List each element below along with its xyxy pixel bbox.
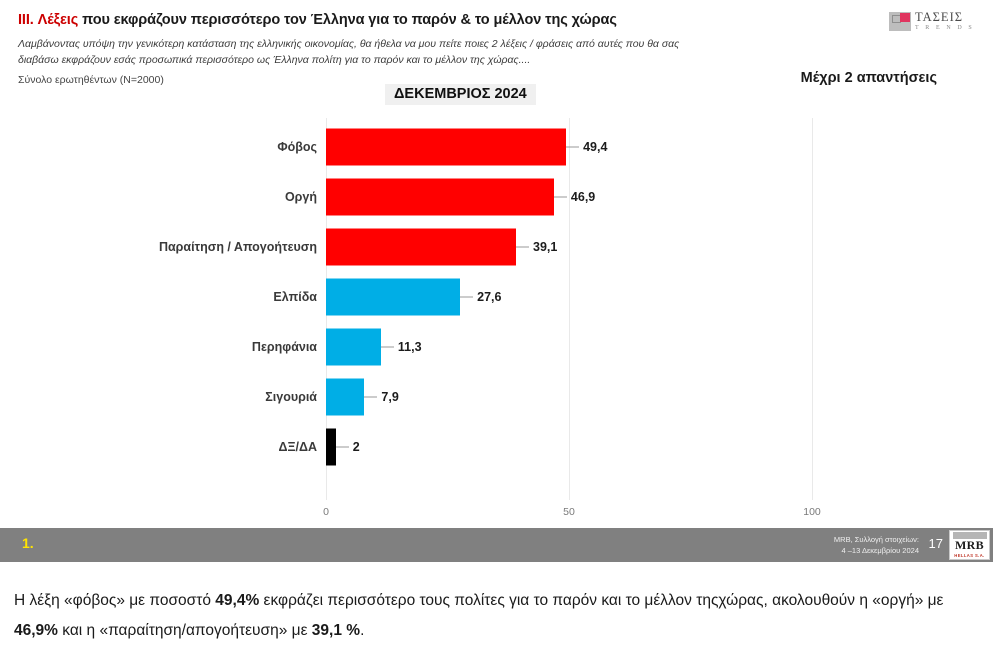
bar-category-label: Φόβος <box>277 140 317 154</box>
x-tick-0: 0 <box>323 506 329 518</box>
slide-footer: 1. MRB, Συλλογή στοιχείων: 4 –13 Δεκεμβρ… <box>0 528 993 562</box>
bar-leader-line <box>566 147 579 148</box>
footer-page-number: 17 <box>929 536 943 551</box>
commentary-bold2: 46,9% <box>14 622 58 639</box>
chart-title: ΔΕΚΕΜΒΡΙΟΣ 2024 <box>385 84 536 105</box>
commentary-bold3: 39,1 % <box>312 622 360 639</box>
bar-value-label: 39,1 <box>533 240 557 254</box>
page-title-highlight: Λέξεις <box>38 12 79 28</box>
max-answers-note: Μέχρι 2 απαντήσεις <box>801 70 937 86</box>
sample-base-text: Σύνολο ερωτηθέντων (Ν=2000) <box>18 74 164 86</box>
bar-row: Οργή46,9 <box>0 172 993 222</box>
bar-value-label: 11,3 <box>398 340 422 354</box>
bar-segment <box>326 179 554 216</box>
bar-category-label: Παραίτηση / Απογοήτευση <box>159 240 317 254</box>
commentary-part2: εκφράζει περισσότερο τους πολίτες για το… <box>259 592 943 609</box>
x-tick-100: 100 <box>803 506 821 518</box>
trends-logo-primary: ΤΑΣΕΙΣ <box>915 11 974 24</box>
footer-source: MRB, Συλλογή στοιχείων: 4 –13 Δεκεμβρίου… <box>834 534 919 557</box>
bar-category-label: ΔΞ/ΔΑ <box>278 440 317 454</box>
mrb-logo-text: MRB <box>955 539 984 553</box>
bar-chart: 0 50 100 Φόβος49,4Οργή46,9Παραίτηση / Απ… <box>0 118 993 518</box>
bar-row: Παραίτηση / Απογοήτευση39,1 <box>0 222 993 272</box>
footer-section-index: 1. <box>22 535 34 551</box>
trends-logo-secondary: T R E N D S <box>915 25 974 31</box>
bar-segment <box>326 379 364 416</box>
trends-logo: ΤΑΣΕΙΣ T R E N D S <box>889 9 985 33</box>
bar-category-label: Οργή <box>285 190 317 204</box>
mrb-logo: MRB HELLAS S.A. <box>949 530 990 560</box>
bar-leader-line <box>554 197 567 198</box>
trends-logo-words: ΤΑΣΕΙΣ T R E N D S <box>915 11 974 32</box>
bar-value-label: 7,9 <box>381 390 398 404</box>
commentary-paragraph: Η λέξη «φόβος» με ποσοστό 49,4% εκφράζει… <box>14 586 974 646</box>
trends-mark-icon <box>889 12 911 31</box>
page-title-rest: που εκφράζουν περισσότερο τον Έλληνα για… <box>82 12 617 28</box>
x-tick-50: 50 <box>563 506 575 518</box>
bar-value-label: 27,6 <box>477 290 501 304</box>
bar-category-label: Περηφάνια <box>252 340 317 354</box>
bar-segment <box>326 129 566 166</box>
bar-leader-line <box>364 397 377 398</box>
bar-segment <box>326 279 460 316</box>
bar-row: Φόβος49,4 <box>0 122 993 172</box>
bar-leader-line <box>516 247 529 248</box>
bar-value-label: 46,9 <box>571 190 595 204</box>
bar-leader-line <box>381 347 394 348</box>
bar-category-label: Σιγουριά <box>265 390 317 404</box>
bar-segment <box>326 429 336 466</box>
bar-segment <box>326 229 516 266</box>
commentary-bold1: 49,4% <box>215 592 259 609</box>
slide-canvas: III. Λέξεις που εκφράζουν περισσότερο το… <box>0 0 993 566</box>
page-title-numeral: III. <box>18 12 34 28</box>
commentary-part1: Η λέξη «φόβος» με ποσοστό <box>14 592 215 609</box>
bar-segment <box>326 329 381 366</box>
bar-row: Σιγουριά7,9 <box>0 372 993 422</box>
bar-value-label: 2 <box>353 440 360 454</box>
question-text: Λαμβάνοντας υπόψη την γενικότερη κατάστα… <box>18 36 718 69</box>
bar-value-label: 49,4 <box>583 140 607 154</box>
footer-source-line2: 4 –13 Δεκεμβρίου 2024 <box>834 545 919 556</box>
page-title: III. Λέξεις που εκφράζουν περισσότερο το… <box>18 12 617 28</box>
mrb-logo-subtext: HELLAS S.A. <box>954 553 984 558</box>
commentary-part4: . <box>360 622 364 639</box>
bar-row: Ελπίδα27,6 <box>0 272 993 322</box>
bar-category-label: Ελπίδα <box>273 290 317 304</box>
commentary-part3: και η «παραίτηση/απογοήτευση» με <box>58 622 312 639</box>
bar-row: Περηφάνια11,3 <box>0 322 993 372</box>
bar-leader-line <box>460 297 473 298</box>
bar-leader-line <box>336 447 349 448</box>
footer-source-line1: MRB, Συλλογή στοιχείων: <box>834 534 919 545</box>
bar-row: ΔΞ/ΔΑ2 <box>0 422 993 472</box>
